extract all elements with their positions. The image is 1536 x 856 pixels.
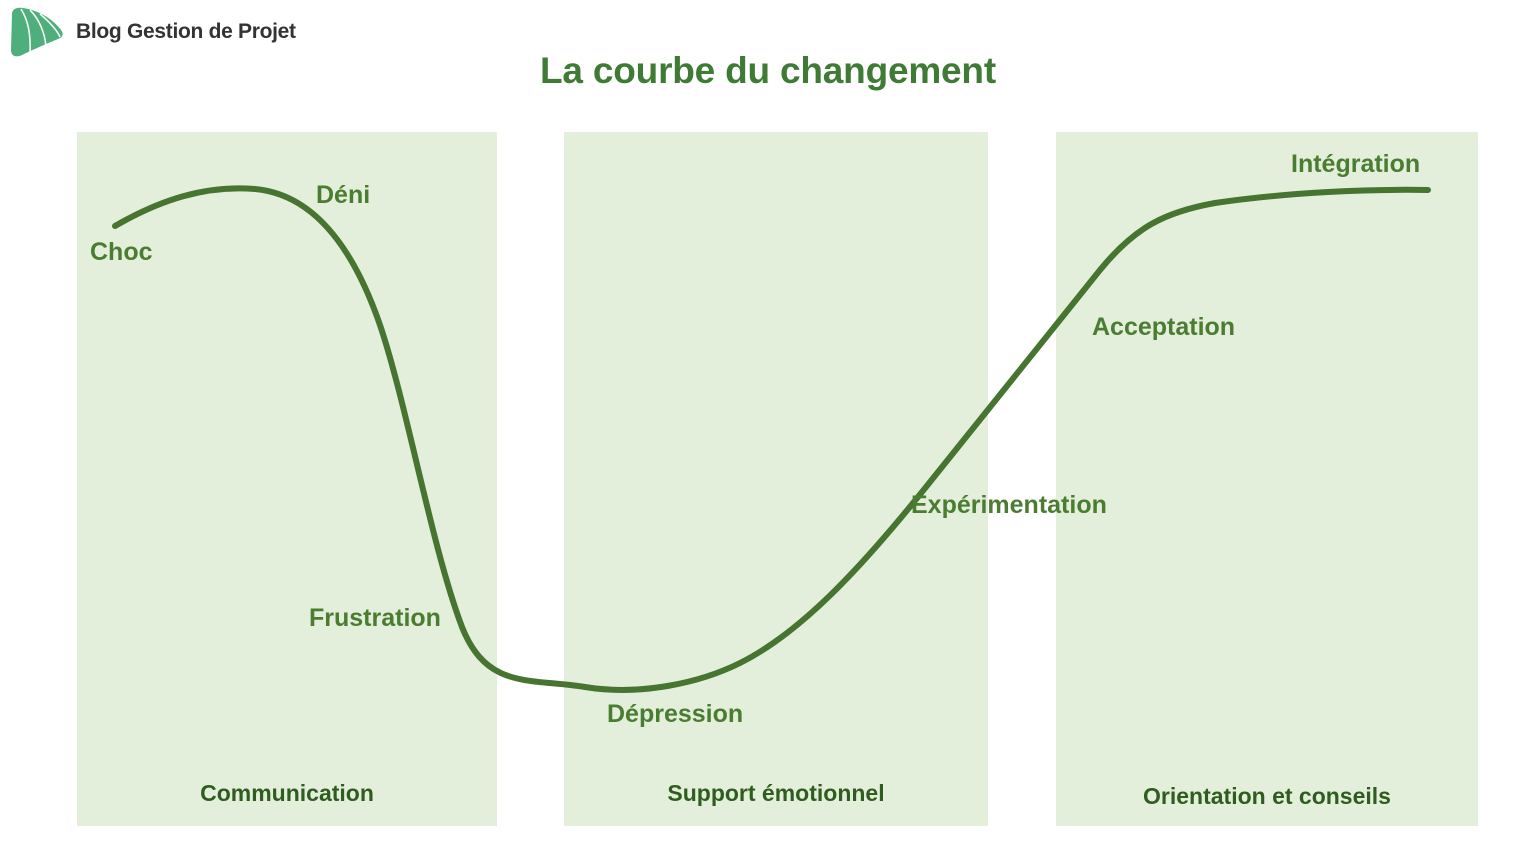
stage-label-integration: Intégration [1291, 150, 1420, 179]
stage-label-choc: Choc [90, 238, 153, 267]
band-communication [77, 132, 497, 826]
stage-label-acceptation: Acceptation [1092, 313, 1235, 342]
change-curve-chart: Choc Déni Frustration Dépression Expérim… [0, 0, 1536, 856]
stage-label-experimentation: Expérimentation [911, 491, 1107, 520]
band-label-communication: Communication [77, 780, 497, 807]
stage-label-depression: Dépression [607, 700, 743, 729]
stage-label-frustration: Frustration [309, 604, 441, 633]
band-label-support-emotionnel: Support émotionnel [564, 780, 988, 807]
band-label-orientation-conseils: Orientation et conseils [1056, 783, 1478, 810]
band-orientation-conseils [1056, 132, 1478, 826]
stage-label-deni: Déni [316, 181, 370, 210]
slide-canvas: Blog Gestion de Projet La courbe du chan… [0, 0, 1536, 856]
